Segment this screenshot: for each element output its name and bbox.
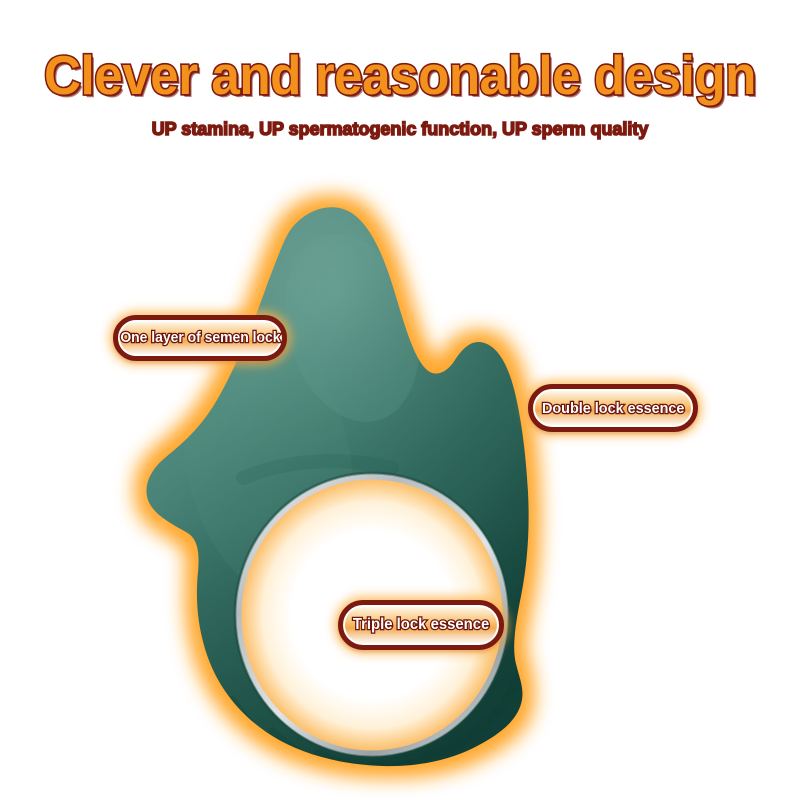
poster-header: Clever and reasonable design UP stamina,… [0,0,800,140]
callout-label: Double lock essence [542,401,684,416]
product-illustration [0,160,800,800]
callout-double-lock-essence[interactable]: Double lock essence [528,384,698,432]
callout-label: One layer of semen lock [120,331,280,346]
product-feature-poster: Clever and reasonable design UP stamina,… [0,0,800,800]
callout-triple-lock-essence[interactable]: Triple lock essence [338,600,504,650]
callout-label: Triple lock essence [353,617,489,633]
callout-one-layer-of-semen-lock[interactable]: One layer of semen lock [113,315,287,361]
product-body [100,180,660,800]
page-title: Clever and reasonable design [28,0,772,106]
page-subtitle: UP stamina, UP spermatogenic function, U… [12,106,788,140]
